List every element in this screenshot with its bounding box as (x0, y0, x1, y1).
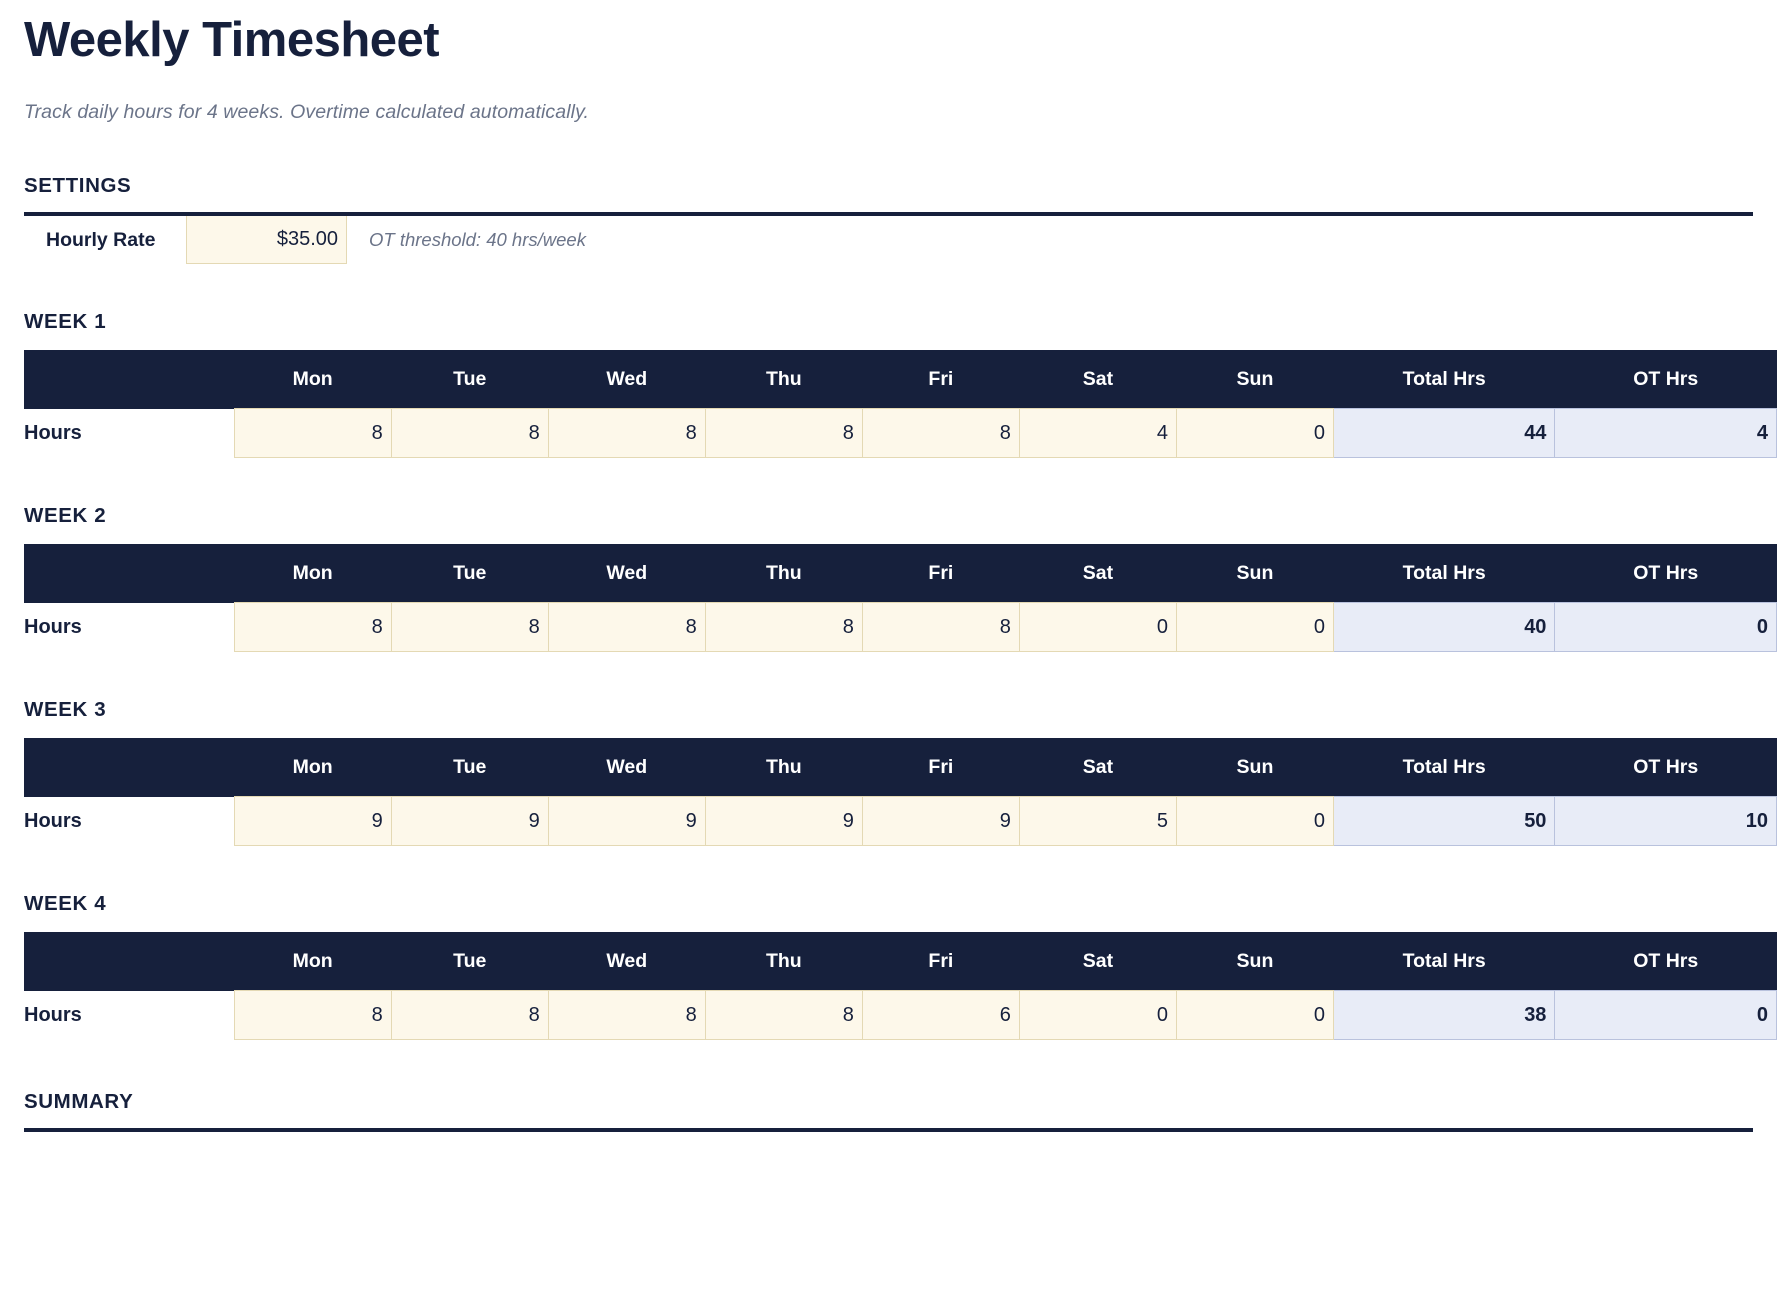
page-title: Weekly Timesheet (24, 0, 1753, 68)
page-subtitle: Track daily hours for 4 weeks. Overtime … (24, 68, 1753, 124)
header-cell-blank (24, 350, 234, 409)
settings-row: Hourly Rate $35.00 OT threshold: 40 hrs/… (24, 216, 1753, 264)
hours-input-sat[interactable]: 4 (1019, 409, 1176, 458)
header-cell-total: Total Hrs (1333, 738, 1554, 797)
header-cell-thu: Thu (705, 932, 862, 991)
hours-input-fri[interactable]: 6 (862, 991, 1019, 1040)
hours-input-thu[interactable]: 9 (705, 797, 862, 846)
week-table: MonTueWedThuFriSatSunTotal HrsOT HrsHour… (24, 932, 1777, 1040)
ot-hours-cell: 0 (1555, 603, 1777, 652)
header-cell-ot: OT Hrs (1555, 932, 1777, 991)
header-cell-fri: Fri (862, 544, 1019, 603)
header-cell-blank (24, 932, 234, 991)
hours-input-mon[interactable]: 9 (234, 797, 391, 846)
header-cell-sun: Sun (1176, 932, 1333, 991)
header-cell-thu: Thu (705, 738, 862, 797)
total-hours-cell: 38 (1333, 991, 1554, 1040)
header-cell-mon: Mon (234, 932, 391, 991)
summary-divider (24, 1128, 1753, 1132)
settings-heading: SETTINGS (24, 124, 1753, 198)
hours-input-sun[interactable]: 0 (1176, 409, 1333, 458)
hours-input-fri[interactable]: 9 (862, 797, 1019, 846)
table-row: Hours8888840444 (24, 409, 1777, 458)
hours-input-tue[interactable]: 8 (391, 991, 548, 1040)
ot-hours-cell: 10 (1555, 797, 1777, 846)
summary-section: SUMMARY (24, 1040, 1753, 1136)
header-cell-tue: Tue (391, 932, 548, 991)
header-cell-thu: Thu (705, 350, 862, 409)
header-cell-ot: OT Hrs (1555, 738, 1777, 797)
hours-input-sat[interactable]: 0 (1019, 991, 1176, 1040)
table-row: Hours99999505010 (24, 797, 1777, 846)
hours-input-tue[interactable]: 9 (391, 797, 548, 846)
week-table: MonTueWedThuFriSatSunTotal HrsOT HrsHour… (24, 544, 1777, 652)
header-cell-wed: Wed (548, 350, 705, 409)
summary-heading: SUMMARY (24, 1040, 1753, 1114)
hours-input-wed[interactable]: 8 (548, 991, 705, 1040)
weeks-container: WEEK 1MonTueWedThuFriSatSunTotal HrsOT H… (24, 264, 1753, 1040)
header-cell-tue: Tue (391, 350, 548, 409)
week-heading: WEEK 3 (24, 652, 1753, 722)
hours-input-wed[interactable]: 8 (548, 603, 705, 652)
row-label: Hours (24, 991, 234, 1040)
table-header-row: MonTueWedThuFriSatSunTotal HrsOT Hrs (24, 738, 1777, 797)
header-cell-fri: Fri (862, 350, 1019, 409)
header-cell-sat: Sat (1019, 932, 1176, 991)
hours-input-thu[interactable]: 8 (705, 991, 862, 1040)
table-row: Hours8888800400 (24, 603, 1777, 652)
total-hours-cell: 44 (1333, 409, 1554, 458)
header-cell-blank (24, 544, 234, 603)
table-header-row: MonTueWedThuFriSatSunTotal HrsOT Hrs (24, 544, 1777, 603)
hours-input-fri[interactable]: 8 (862, 603, 1019, 652)
week-block: WEEK 1MonTueWedThuFriSatSunTotal HrsOT H… (24, 264, 1753, 458)
header-cell-mon: Mon (234, 544, 391, 603)
hours-input-sat[interactable]: 5 (1019, 797, 1176, 846)
week-block: WEEK 3MonTueWedThuFriSatSunTotal HrsOT H… (24, 652, 1753, 846)
table-header-row: MonTueWedThuFriSatSunTotal HrsOT Hrs (24, 350, 1777, 409)
total-hours-cell: 50 (1333, 797, 1554, 846)
total-hours-cell: 40 (1333, 603, 1554, 652)
header-cell-blank (24, 738, 234, 797)
hours-input-sun[interactable]: 0 (1176, 991, 1333, 1040)
ot-threshold-note: OT threshold: 40 hrs/week (347, 216, 586, 264)
header-cell-fri: Fri (862, 738, 1019, 797)
hours-input-thu[interactable]: 8 (705, 409, 862, 458)
hours-input-thu[interactable]: 8 (705, 603, 862, 652)
header-cell-sat: Sat (1019, 350, 1176, 409)
ot-hours-cell: 4 (1555, 409, 1777, 458)
header-cell-wed: Wed (548, 544, 705, 603)
hours-input-wed[interactable]: 9 (548, 797, 705, 846)
hours-input-sun[interactable]: 0 (1176, 603, 1333, 652)
hours-input-wed[interactable]: 8 (548, 409, 705, 458)
table-row: Hours8888600380 (24, 991, 1777, 1040)
row-label: Hours (24, 797, 234, 846)
hours-input-mon[interactable]: 8 (234, 991, 391, 1040)
header-cell-tue: Tue (391, 738, 548, 797)
header-cell-thu: Thu (705, 544, 862, 603)
hours-input-fri[interactable]: 8 (862, 409, 1019, 458)
table-header-row: MonTueWedThuFriSatSunTotal HrsOT Hrs (24, 932, 1777, 991)
ot-hours-cell: 0 (1555, 991, 1777, 1040)
header-cell-tue: Tue (391, 544, 548, 603)
header-cell-mon: Mon (234, 350, 391, 409)
header-cell-ot: OT Hrs (1555, 350, 1777, 409)
row-label: Hours (24, 603, 234, 652)
hours-input-mon[interactable]: 8 (234, 603, 391, 652)
hourly-rate-label: Hourly Rate (24, 216, 186, 264)
header-cell-total: Total Hrs (1333, 932, 1554, 991)
header-cell-sun: Sun (1176, 350, 1333, 409)
header-cell-sun: Sun (1176, 544, 1333, 603)
hours-input-sun[interactable]: 0 (1176, 797, 1333, 846)
header-cell-total: Total Hrs (1333, 544, 1554, 603)
week-block: WEEK 2MonTueWedThuFriSatSunTotal HrsOT H… (24, 458, 1753, 652)
header-cell-mon: Mon (234, 738, 391, 797)
week-table: MonTueWedThuFriSatSunTotal HrsOT HrsHour… (24, 350, 1777, 458)
week-table: MonTueWedThuFriSatSunTotal HrsOT HrsHour… (24, 738, 1777, 846)
header-cell-sun: Sun (1176, 738, 1333, 797)
hours-input-sat[interactable]: 0 (1019, 603, 1176, 652)
week-heading: WEEK 1 (24, 264, 1753, 334)
header-cell-wed: Wed (548, 738, 705, 797)
week-block: WEEK 4MonTueWedThuFriSatSunTotal HrsOT H… (24, 846, 1753, 1040)
header-cell-total: Total Hrs (1333, 350, 1554, 409)
week-heading: WEEK 2 (24, 458, 1753, 528)
header-cell-wed: Wed (548, 932, 705, 991)
hours-input-mon[interactable]: 8 (234, 409, 391, 458)
hours-input-tue[interactable]: 8 (391, 409, 548, 458)
week-heading: WEEK 4 (24, 846, 1753, 916)
hours-input-tue[interactable]: 8 (391, 603, 548, 652)
row-label: Hours (24, 409, 234, 458)
hourly-rate-input[interactable]: $35.00 (186, 216, 347, 264)
header-cell-sat: Sat (1019, 738, 1176, 797)
header-cell-fri: Fri (862, 932, 1019, 991)
header-cell-sat: Sat (1019, 544, 1176, 603)
header-cell-ot: OT Hrs (1555, 544, 1777, 603)
timesheet-page: Weekly Timesheet Track daily hours for 4… (0, 0, 1777, 1136)
